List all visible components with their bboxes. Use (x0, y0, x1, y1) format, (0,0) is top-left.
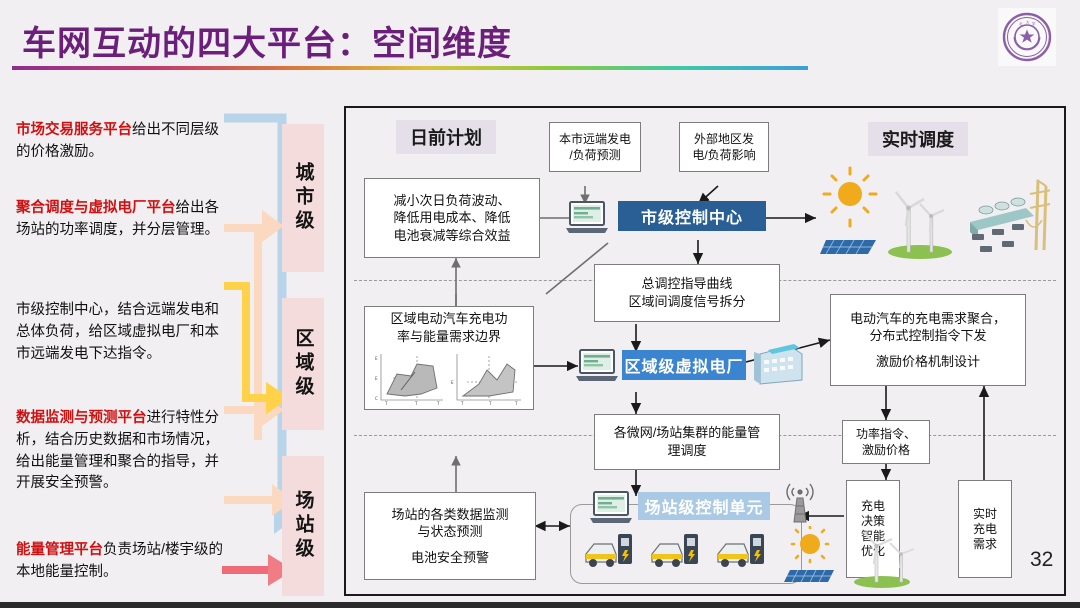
ev-charging-station-icon (718, 534, 764, 567)
note-rest: 市级控制中心，结合远端发电和总体负荷，给区域虚拟电厂和本市远端发电下达指令。 (16, 302, 219, 362)
svg-text:T: T (514, 401, 518, 406)
data-center-building-icon (750, 340, 808, 393)
energy-assets-illustration (820, 164, 1050, 269)
laptop-icon-regional (574, 348, 620, 389)
note-aggregation-vpp-platform: 聚合调度与虚拟电厂平台给出各场站的功率调度，并分层管理。 (16, 198, 231, 242)
title-gradient-rule (12, 66, 808, 70)
note-highlight: 聚合调度与虚拟电厂平台 (16, 200, 176, 216)
node-realtime-charge-demand: 实时 充电 需求 (958, 480, 1012, 578)
station-renewables-illustration (782, 526, 922, 593)
slide-root: 车网互动的四大平台：空间维度 北大学 市场交易服务平台给出不同层级的价格激励。 … (0, 0, 1080, 608)
svg-text:E: E (451, 380, 454, 385)
svg-text:学: 学 (1032, 21, 1036, 26)
node-regional-ev-boundary: 区域电动汽车充电功 率与能量需求边界 (364, 306, 534, 410)
svg-text:E: E (375, 376, 378, 381)
svg-text:T: T (488, 401, 492, 406)
node-microgrid-energy-mgmt: 各微网/场站集群的能量管 理调度 (594, 414, 780, 470)
note-highlight: 市场交易服务平台 (16, 122, 132, 138)
svg-text:大: 大 (1026, 20, 1030, 25)
sun-icon (792, 526, 828, 562)
solar-panel-icon (784, 570, 834, 582)
note-energy-management-platform: 能量管理平台负责场站/楼宇级的本地能量控制。 (16, 540, 231, 584)
note-city-control-center: 市级控制中心，结合远端发电和总体负荷，给区域虚拟电厂和本市远端发电下达指令。 (16, 300, 231, 365)
ev-charging-station-group (582, 532, 782, 585)
svg-text:T: T (436, 401, 440, 406)
university-seal-logo: 北大学 (998, 8, 1056, 66)
laptop-icon-station (588, 490, 634, 531)
sun-icon (824, 168, 876, 226)
note-data-monitoring-platform: 数据监测与预测平台进行特性分析，结合历史数据和市场情况，给出能量管理和聚合的指导… (16, 408, 231, 495)
svg-text:E: E (375, 356, 378, 361)
architecture-diagram: 日前计划 实时调度 (344, 106, 1066, 596)
level-label-city: 城市级 (282, 124, 324, 272)
node-city-gen-load-forecast: 本市远端发电 /负荷预测 (549, 122, 641, 172)
regional-vpp-label: 区域级虚拟电厂 (622, 350, 746, 380)
node-ev-demand-aggregation: 电动汽车的充电需求聚合， 分布式控制指令下发 激励价格机制设计 (830, 294, 1026, 386)
bottom-bar (0, 602, 1080, 608)
svg-text:T: T (460, 401, 464, 406)
level-label-station: 场站级 (282, 456, 324, 596)
station-control-unit-label: 场站级控制单元 (638, 492, 770, 520)
node-day-ahead-benefit: 减小次日负荷波动、 降低用电成本、降低 电池衰减等综合效益 (364, 178, 540, 258)
svg-text:C: C (375, 396, 378, 401)
ev-power-energy-boundary-chart: EEC TTT TTT E (371, 350, 527, 406)
city-control-center-label: 市级控制中心 (618, 201, 766, 231)
laptop-icon-city (564, 200, 610, 241)
page-number: 32 (1030, 548, 1053, 572)
node-power-cmd-price: 功率指令、 激励价格 (842, 420, 930, 464)
ev-charging-station-icon (586, 534, 632, 567)
solar-panel-icon (820, 240, 876, 254)
svg-text:T: T (384, 401, 388, 406)
note-market-trading-platform: 市场交易服务平台给出不同层级的价格激励。 (16, 120, 231, 164)
node-station-data-monitor: 场站的各类数据监测 与状态预测 电池安全预警 (364, 492, 536, 580)
note-highlight: 能量管理平台 (16, 542, 103, 558)
level-label-regional: 区域级 (282, 298, 324, 430)
wind-turbine-icon (854, 532, 914, 588)
ev-charging-station-icon (652, 534, 698, 567)
page-title: 车网互动的四大平台：空间维度 (22, 16, 512, 65)
antenna-icon (782, 478, 818, 531)
wind-turbine-icon (888, 192, 952, 259)
node-external-region-effect: 外部地区发 电/负荷影响 (679, 122, 769, 172)
node-dispatch-curve-split: 总调控指导曲线 区域间调度信号拆分 (594, 264, 780, 322)
note-highlight: 数据监测与预测平台 (16, 410, 147, 426)
svg-text:T: T (414, 401, 418, 406)
substation-icon (970, 198, 1034, 252)
